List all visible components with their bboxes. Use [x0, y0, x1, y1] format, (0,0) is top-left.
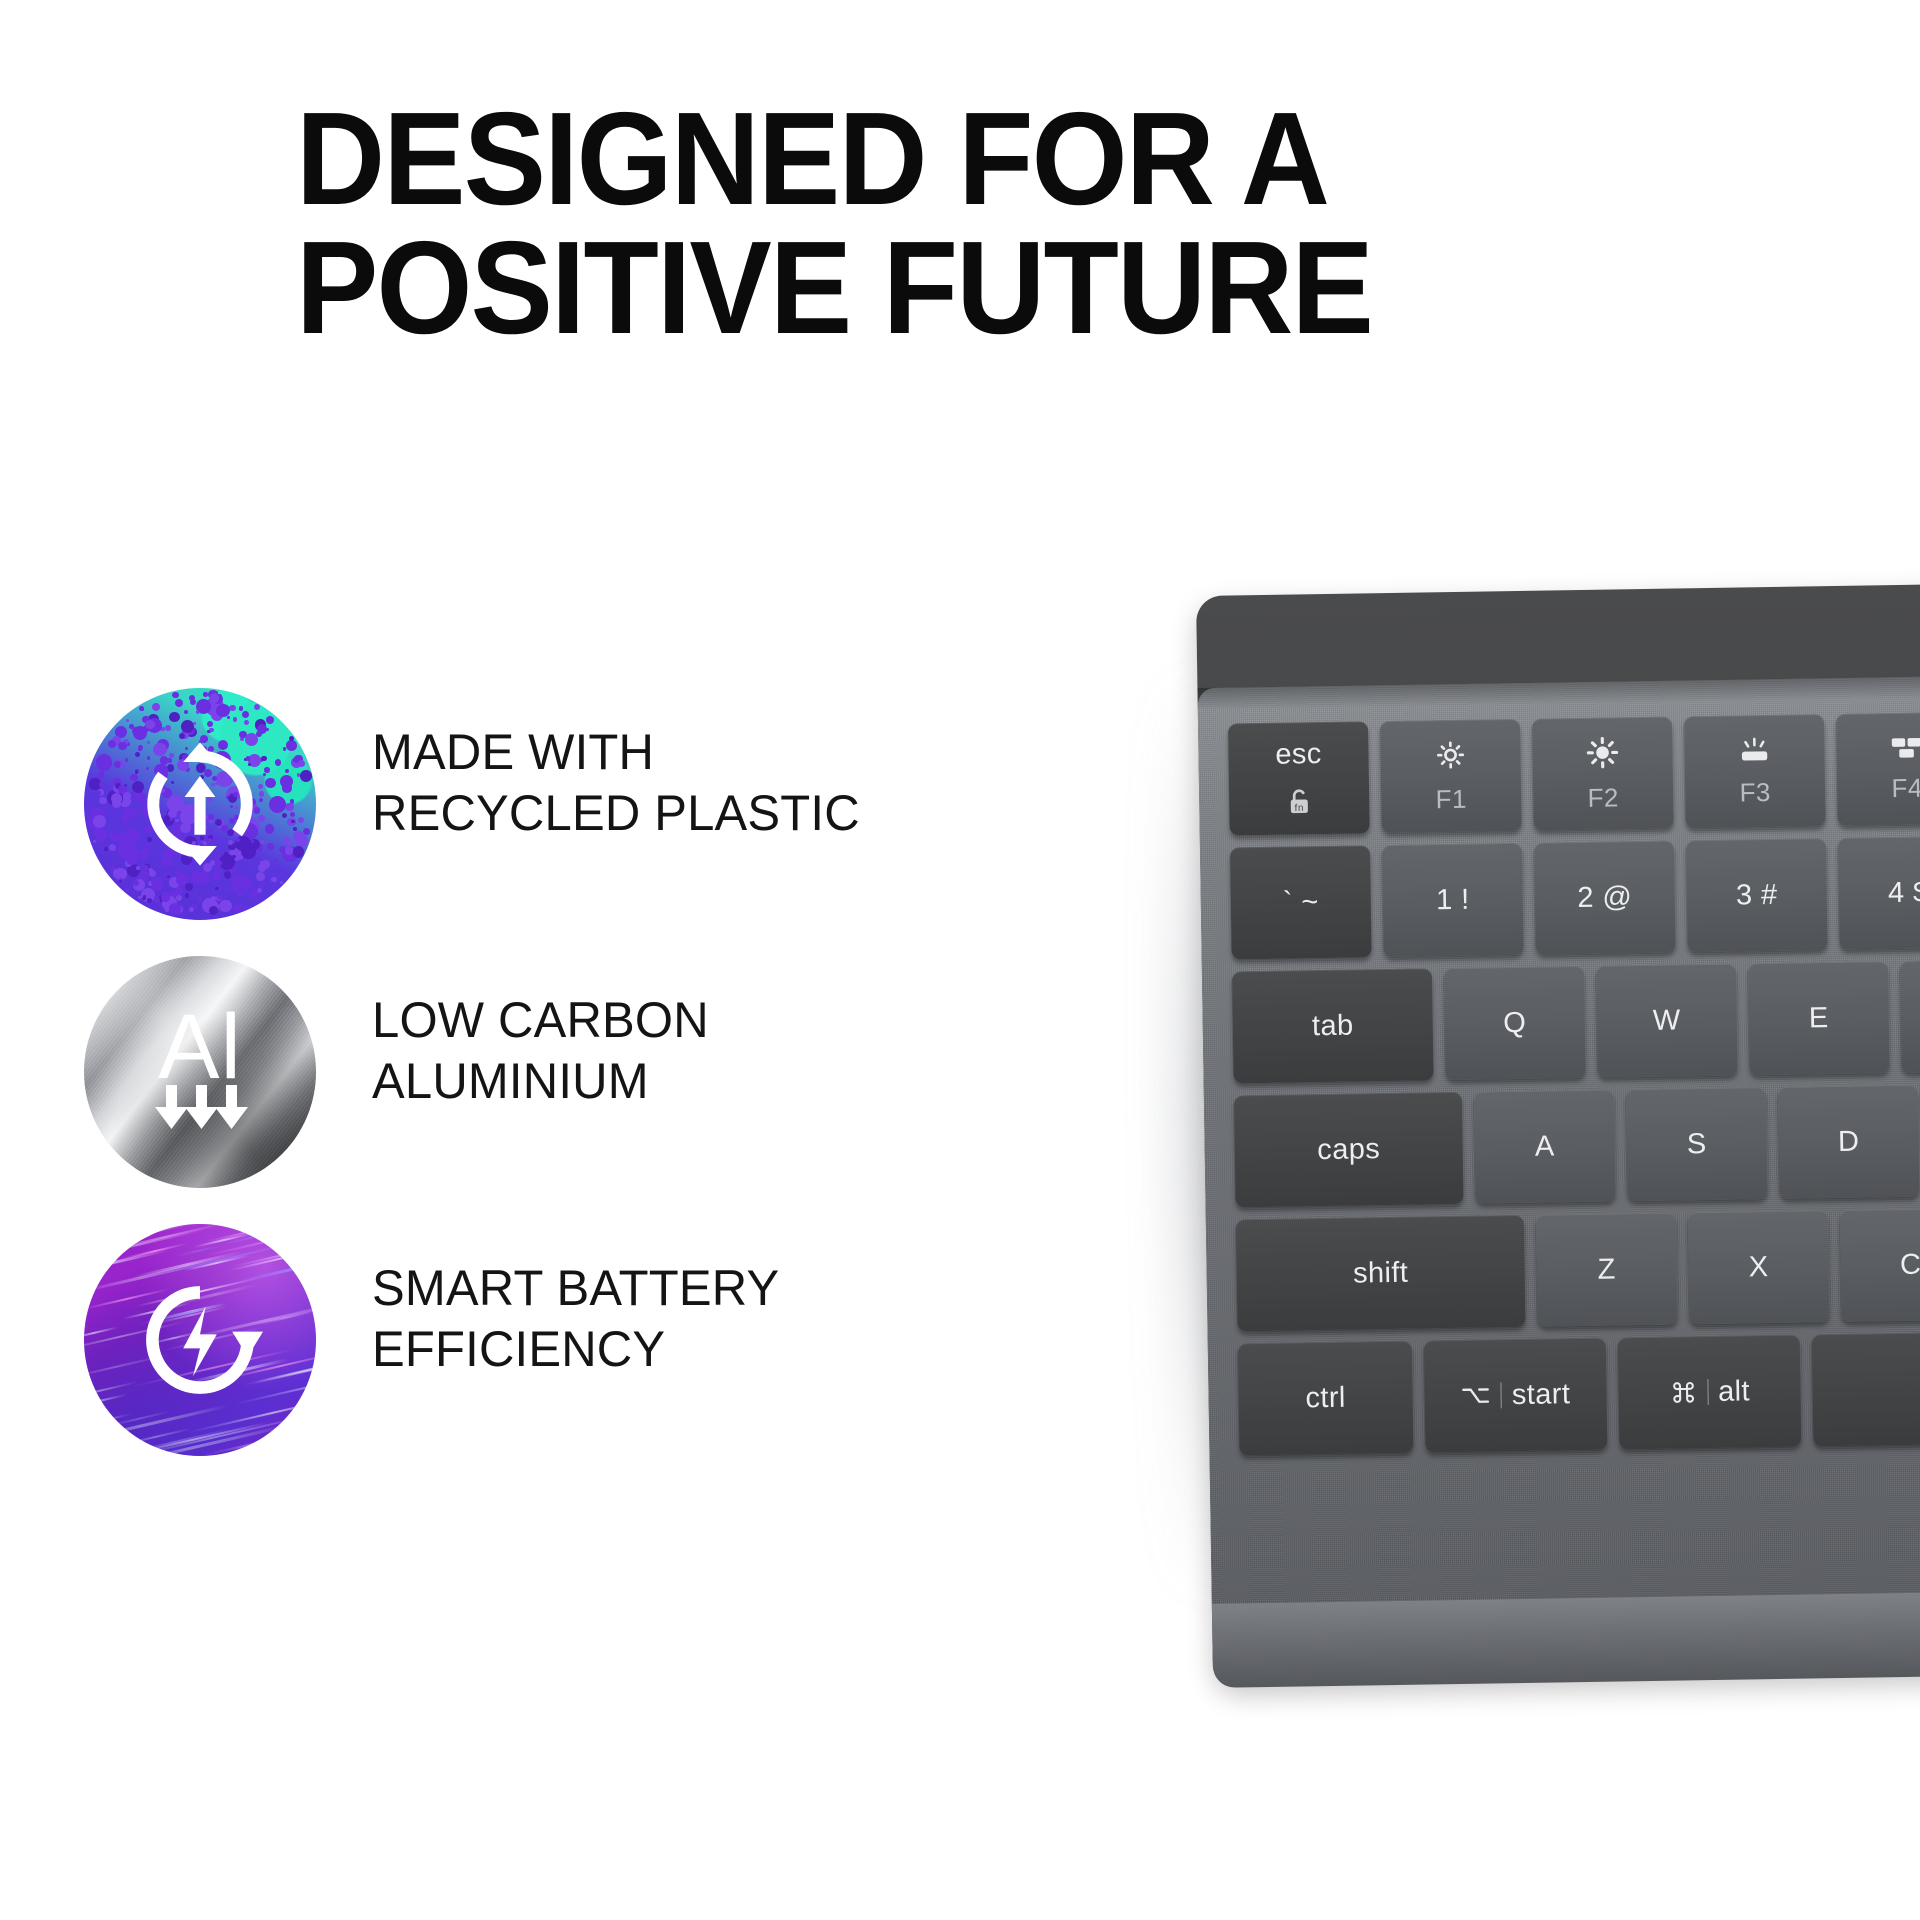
command-icon: [1669, 1378, 1697, 1406]
key-caps[interactable]: caps: [1234, 1092, 1464, 1208]
backlight-icon: [1735, 734, 1773, 765]
key-label: C: [1900, 1248, 1920, 1281]
key-f2[interactable]: F2: [1532, 717, 1674, 831]
key-w[interactable]: W: [1596, 964, 1738, 1078]
key-label: D: [1838, 1125, 1860, 1158]
key-d[interactable]: D: [1778, 1085, 1920, 1199]
key-label: shift: [1353, 1256, 1409, 1290]
key-c[interactable]: C: [1840, 1208, 1920, 1322]
key-label: F4: [1891, 772, 1920, 803]
fn-lock-icon: fn: [1282, 785, 1317, 820]
brightness-up-icon: [1584, 734, 1621, 771]
key-label: Z: [1597, 1253, 1616, 1286]
key-label: W: [1653, 1004, 1681, 1037]
key-label: 1 !: [1436, 883, 1470, 917]
key-2[interactable]: 2 @: [1534, 841, 1676, 955]
key-e[interactable]: E: [1748, 961, 1890, 1075]
feature-item-low-carbon-aluminium: Al LOW CA: [84, 956, 964, 1224]
mission-control-icon: [1889, 734, 1920, 761]
key-label: A: [1535, 1130, 1555, 1163]
key-label: F1: [1435, 783, 1467, 814]
aluminium-down-arrows-icon: Al: [84, 956, 316, 1188]
key-q[interactable]: Q: [1444, 966, 1586, 1080]
key-label: X: [1748, 1251, 1768, 1284]
key-label: esc: [1275, 738, 1322, 772]
keyboard-base: [1212, 1589, 1920, 1688]
key-esc[interactable]: esc fn: [1228, 721, 1370, 835]
key-f1[interactable]: F1: [1380, 719, 1522, 833]
key-3[interactable]: 3 #: [1686, 838, 1828, 952]
key-option-start[interactable]: start: [1424, 1338, 1608, 1453]
key-label: tab: [1312, 1009, 1354, 1043]
key-label: 3 #: [1736, 878, 1778, 912]
svg-text:fn: fn: [1295, 802, 1305, 813]
key-space[interactable]: [1812, 1329, 1920, 1447]
key-label: 4 $: [1888, 876, 1920, 910]
aluminium-badge: Al: [84, 956, 316, 1188]
smart-battery-badge: [84, 1224, 316, 1456]
key-z[interactable]: Z: [1536, 1213, 1678, 1327]
option-icon: [1461, 1384, 1491, 1406]
key-label: Q: [1503, 1006, 1526, 1039]
key-label: alt: [1718, 1375, 1750, 1408]
key-a[interactable]: A: [1474, 1089, 1616, 1203]
recycle-arrows-icon: [84, 688, 316, 920]
promo-canvas: DESIGNED FOR A POSITIVE FUTURE: [0, 0, 1920, 1920]
key-ctrl[interactable]: ctrl: [1238, 1341, 1414, 1456]
key-shift[interactable]: shift: [1236, 1215, 1526, 1332]
key-s[interactable]: S: [1626, 1087, 1768, 1201]
key-x[interactable]: X: [1688, 1210, 1830, 1324]
key-label: 2 @: [1577, 881, 1632, 915]
feature-list: MADE WITH RECYCLED PLASTIC Al: [84, 688, 964, 1492]
key-4[interactable]: 4 $: [1838, 836, 1920, 950]
key-label: ctrl: [1305, 1381, 1346, 1415]
key-divider: [1501, 1382, 1502, 1408]
key-r[interactable]: R: [1900, 959, 1920, 1073]
key-tab[interactable]: tab: [1232, 968, 1434, 1083]
key-label: start: [1512, 1378, 1571, 1412]
key-label: caps: [1317, 1133, 1380, 1167]
page-title: DESIGNED FOR A POSITIVE FUTURE: [296, 94, 1530, 353]
feature-label: MADE WITH RECYCLED PLASTIC: [372, 722, 960, 844]
recycled-plastic-badge: [84, 688, 316, 920]
key-f3[interactable]: F3: [1684, 714, 1826, 828]
key-label: E: [1809, 1002, 1829, 1035]
feature-label: LOW CARBON ALUMINIUM: [372, 990, 960, 1112]
key-label: ` ~: [1283, 886, 1319, 920]
feature-item-smart-battery: SMART BATTERY EFFICIENCY: [84, 1224, 964, 1492]
battery-recharge-bolt-icon: [84, 1224, 316, 1456]
feature-label: SMART BATTERY EFFICIENCY: [372, 1258, 960, 1380]
key-divider: [1707, 1379, 1708, 1405]
feature-item-recycled-plastic: MADE WITH RECYCLED PLASTIC: [84, 688, 964, 956]
brightness-down-icon: [1433, 737, 1468, 772]
key-command-alt[interactable]: alt: [1618, 1335, 1802, 1450]
key-backtick[interactable]: ` ~: [1230, 845, 1372, 959]
keyboard-image: esc fn F1: [1196, 581, 1920, 1696]
key-1[interactable]: 1 !: [1382, 843, 1524, 957]
key-label: F3: [1739, 776, 1771, 807]
key-f4[interactable]: F4: [1836, 712, 1920, 826]
key-label: S: [1687, 1128, 1707, 1161]
key-label: F2: [1587, 782, 1619, 813]
